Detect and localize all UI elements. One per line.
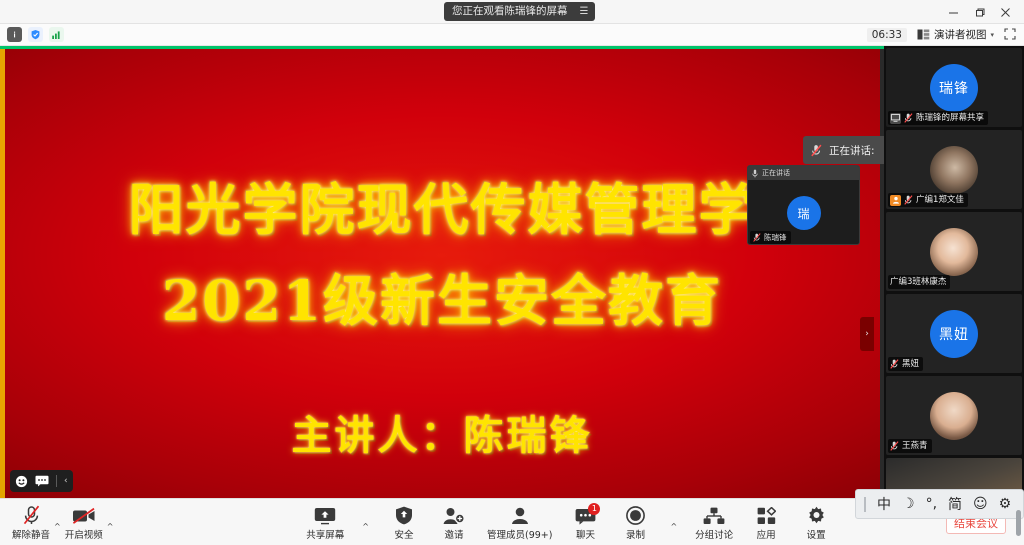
ime-drag-handle[interactable]	[864, 497, 866, 512]
viewing-screen-label: 您正在观看陈瑞锋的屏幕	[452, 2, 568, 21]
participant-video	[930, 392, 978, 440]
audio-options-chevron-icon[interactable]: ^	[52, 522, 63, 531]
shield-icon[interactable]	[28, 27, 43, 42]
start-video-button[interactable]: 开启视频	[65, 505, 103, 541]
participant-tile[interactable]: 广编1郑文佳	[886, 130, 1022, 209]
share-options-chevron-icon[interactable]: ^	[360, 522, 371, 531]
speaker-view-icon	[917, 29, 930, 40]
participant-tile[interactable]: 广编3班林康杰	[886, 212, 1022, 291]
unmute-button[interactable]: 解除静音	[12, 505, 50, 541]
mic-icon	[752, 169, 758, 178]
avatar: 黑妞	[930, 310, 978, 358]
participants-icon	[510, 505, 530, 525]
maximize-icon[interactable]	[966, 0, 992, 24]
info-icon[interactable]	[7, 27, 22, 42]
float-window-body: 瑞 陈瑞锋	[748, 180, 859, 245]
ime-moon-icon[interactable]: ☽	[902, 496, 915, 512]
avatar: 瑞锋	[930, 64, 978, 112]
record-label: 录制	[626, 527, 645, 541]
apps-button[interactable]: 应用	[749, 505, 783, 541]
control-group-left: 解除静音 ^ 开启视频 ^	[0, 499, 115, 545]
record-button[interactable]: 录制	[618, 505, 652, 541]
video-options-chevron-icon[interactable]: ^	[105, 522, 116, 531]
screen-share-icon	[314, 505, 336, 525]
view-mode-label: 演讲者视图	[934, 27, 987, 42]
mic-muted-icon	[890, 441, 899, 451]
apps-label: 应用	[757, 527, 776, 541]
speaking-overlay-label: 正在讲话:	[829, 143, 875, 158]
viewing-screen-pill[interactable]: 您正在观看陈瑞锋的屏幕 ☰	[444, 2, 595, 21]
participant-tile[interactable]: 瑞锋 陈瑞锋的屏幕共享	[886, 48, 1022, 127]
zoom-meeting-window: 您正在观看陈瑞锋的屏幕 ☰	[0, 0, 1024, 545]
active-speaker-float-window[interactable]: 正在讲话 瑞 陈瑞锋	[747, 165, 860, 245]
float-window-participant-name: 陈瑞锋	[750, 231, 791, 244]
ime-emoji-icon[interactable]: ☺	[973, 496, 988, 512]
invite-label: 邀请	[444, 527, 463, 541]
chevron-left-icon[interactable]: ‹	[64, 476, 68, 486]
chat-label: 聊天	[576, 527, 595, 541]
participant-name-text: 陈瑞锋的屏幕共享	[916, 112, 984, 125]
window-titlebar: 您正在观看陈瑞锋的屏幕 ☰	[0, 0, 1024, 24]
mic-muted-icon	[22, 505, 41, 525]
screen-share-icon	[890, 113, 901, 124]
scrollbar-thumb[interactable]	[1016, 510, 1021, 536]
avatar: 瑞	[787, 196, 821, 230]
ime-punctuation-icon[interactable]: °,	[926, 496, 937, 512]
chat-unread-badge: 1	[588, 503, 600, 515]
slide-presenter: 主讲人：陈瑞锋	[0, 403, 884, 461]
record-options-chevron-icon[interactable]: ^	[668, 522, 679, 531]
participant-label: 广编1郑文佳	[888, 193, 968, 207]
ime-settings-gear-icon[interactable]: ⚙	[999, 496, 1012, 512]
participant-tile[interactable]: 王燕青	[886, 376, 1022, 455]
close-icon[interactable]	[992, 0, 1018, 24]
participant-video	[930, 228, 978, 276]
view-mode-selector[interactable]: 演讲者视图 ▾	[917, 27, 994, 42]
manage-participants-label: 管理成员(99+)	[487, 527, 552, 541]
info-bar-left	[0, 27, 64, 42]
float-window-title: 正在讲话	[762, 168, 790, 178]
participant-name-text: 陈瑞锋	[764, 232, 787, 243]
shared-screen-stage[interactable]: 阳光学院现代传媒管理学 2021级新生安全教育 主讲人：陈瑞锋 您尚未静音 老师…	[0, 46, 884, 498]
sidebar-collapse-handle[interactable]: ›	[860, 317, 874, 351]
control-group-middle: 共享屏幕 ^ 安全	[306, 499, 833, 545]
manage-participants-button[interactable]: 管理成员(99+)	[487, 505, 552, 541]
reactions-toolbar[interactable]: ‹	[10, 470, 73, 492]
apps-icon	[757, 505, 776, 525]
minimize-icon[interactable]	[940, 0, 966, 24]
mic-muted-icon	[904, 195, 913, 205]
ime-mode-chinese[interactable]: 中	[877, 494, 891, 514]
share-screen-label: 共享屏幕	[306, 527, 344, 541]
window-controls	[940, 0, 1018, 24]
mic-muted-icon	[811, 144, 822, 157]
toolbar-divider	[56, 475, 57, 487]
breakout-rooms-icon	[703, 505, 725, 525]
participant-name-text: 广编3班林康杰	[890, 276, 946, 289]
settings-label: 设置	[807, 527, 826, 541]
invite-button[interactable]: 邀请	[437, 505, 471, 541]
slide-title-line2: 2021级新生安全教育	[0, 256, 884, 336]
settings-button[interactable]: 设置	[799, 505, 833, 541]
security-label: 安全	[394, 527, 413, 541]
participant-label: 王燕青	[888, 439, 932, 453]
participant-video	[930, 146, 978, 194]
chat-button[interactable]: 1 聊天	[568, 505, 602, 541]
participant-name-text: 王燕青	[902, 440, 928, 453]
breakout-rooms-button[interactable]: 分组讨论	[695, 505, 733, 541]
network-signal-icon[interactable]	[49, 27, 64, 42]
meeting-info-bar: 06:33 演讲者视图 ▾	[0, 24, 1024, 46]
share-screen-button[interactable]: 共享屏幕	[306, 505, 344, 541]
pill-menu-icon[interactable]: ☰	[580, 2, 589, 21]
chevron-down-icon[interactable]: ▾	[990, 31, 994, 39]
mic-muted-icon	[904, 113, 913, 123]
participant-label: 陈瑞锋的屏幕共享	[888, 111, 988, 125]
emoji-icon[interactable]	[15, 475, 28, 488]
invite-person-icon	[443, 505, 465, 525]
ime-simplified-icon[interactable]: 简	[948, 494, 962, 514]
participants-filmstrip[interactable]: 瑞锋 陈瑞锋的屏幕共享 广编1郑文佳 广编3班林康杰	[884, 46, 1024, 498]
security-button[interactable]: 安全	[387, 505, 421, 541]
fullscreen-icon[interactable]	[1004, 25, 1016, 44]
participant-label: 黑妞	[888, 357, 923, 371]
participant-name-text: 广编1郑文佳	[916, 194, 964, 207]
chat-bubble-icon[interactable]	[35, 475, 49, 487]
ime-toolbar[interactable]: 中 ☽ °, 简 ☺ ⚙	[855, 489, 1024, 519]
participant-tile[interactable]: 黑妞 黑妞	[886, 294, 1022, 373]
gear-icon	[807, 505, 826, 525]
mic-muted-icon	[753, 233, 761, 242]
participant-label: 广编3班林康杰	[888, 275, 950, 289]
meeting-clock: 06:33	[867, 28, 907, 42]
unmute-label: 解除静音	[12, 527, 50, 541]
participant-name-text: 黑妞	[902, 358, 919, 371]
breakout-rooms-label: 分组讨论	[695, 527, 733, 541]
info-bar-right: 06:33 演讲者视图 ▾	[867, 25, 1024, 44]
record-icon	[626, 505, 645, 525]
shield-icon	[395, 505, 413, 525]
start-video-label: 开启视频	[65, 527, 103, 541]
participant-icon	[890, 195, 901, 206]
video-off-icon	[72, 505, 96, 525]
mic-muted-icon	[890, 359, 899, 369]
float-window-header: 正在讲话	[748, 166, 859, 180]
